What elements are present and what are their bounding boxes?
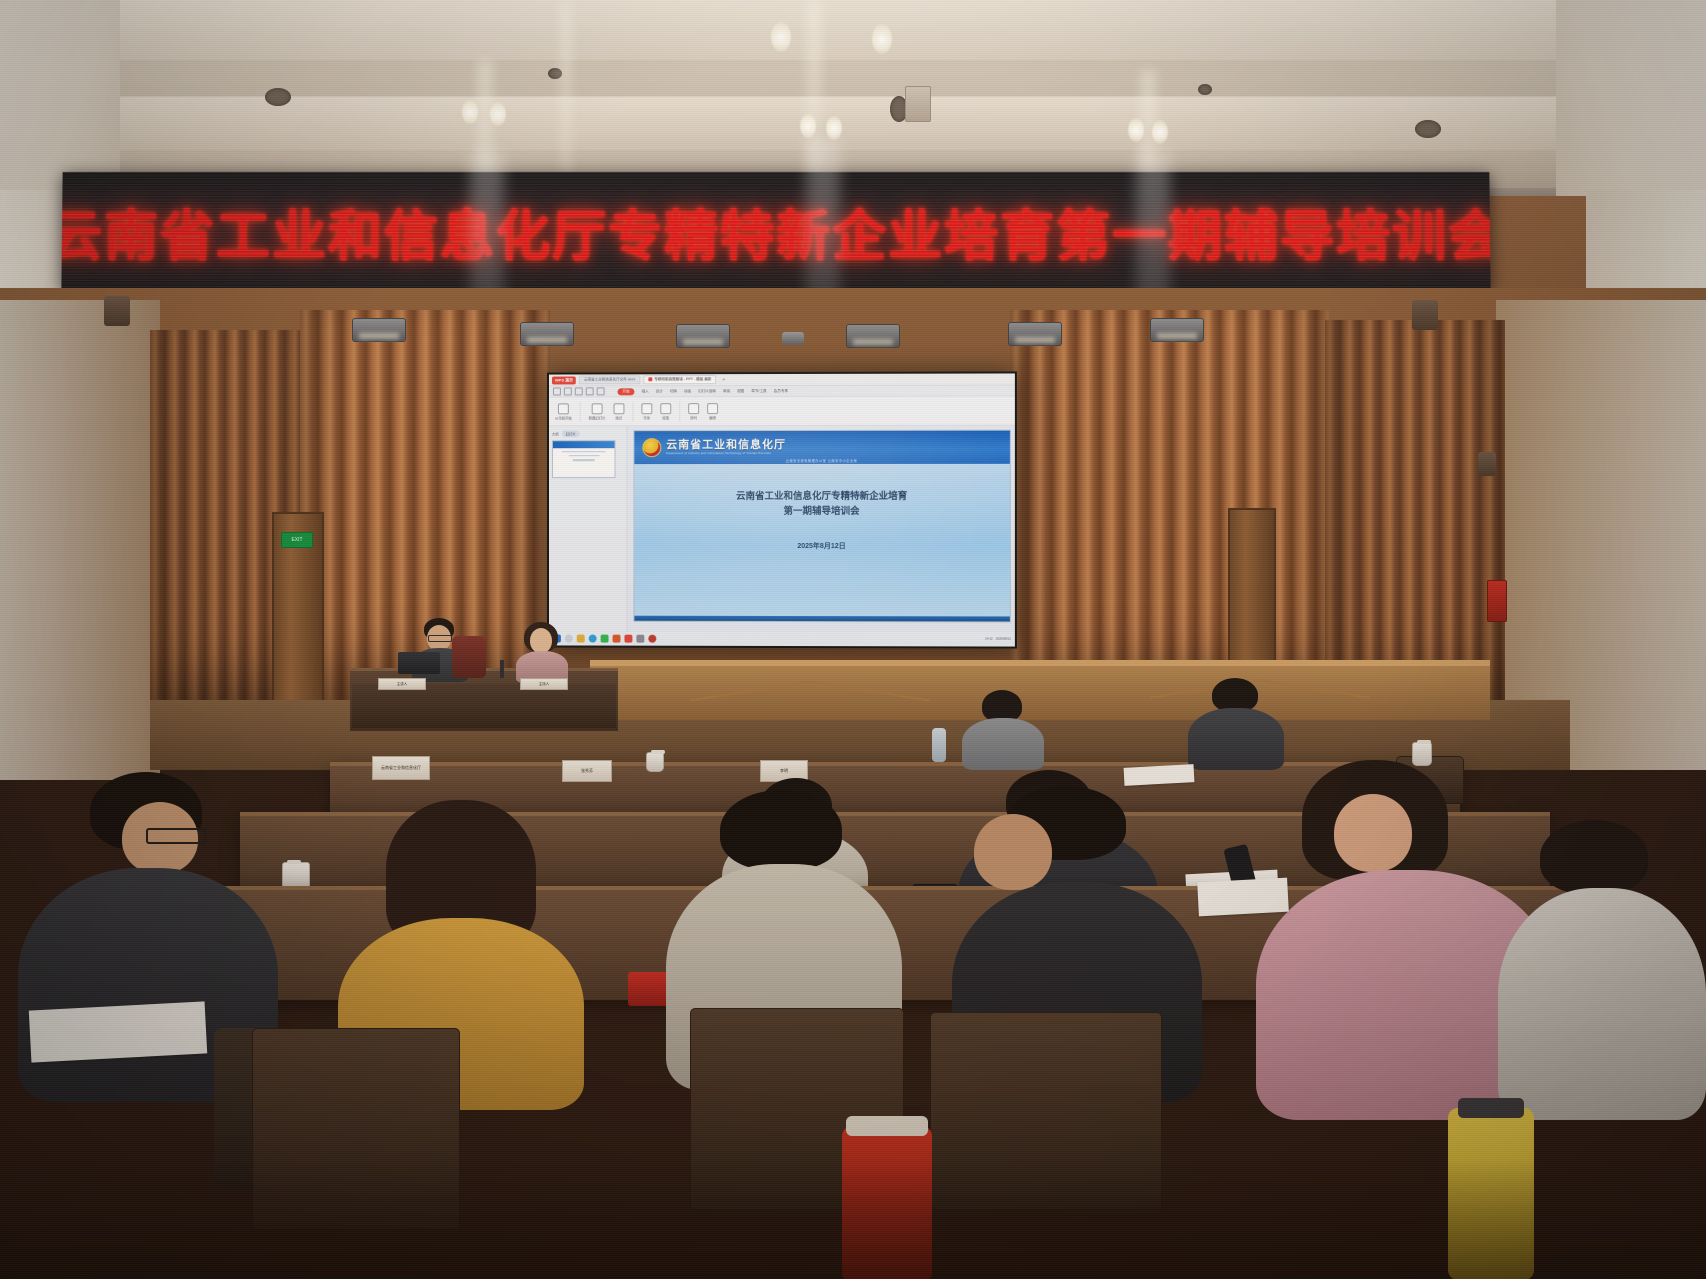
stage-light-icon (1008, 322, 1062, 346)
chair-back (252, 1028, 460, 1230)
ribbon-label-font: 字体 (643, 415, 650, 420)
thermos-flask (842, 1126, 932, 1279)
attendee-back-1 (962, 690, 1044, 770)
ppt-file-icon (648, 377, 652, 381)
audience-nameplate-label-2: 张秀芳 (581, 768, 593, 774)
ceiling (0, 0, 1706, 200)
curtain-right (1010, 310, 1330, 710)
ribbon-separator (679, 401, 680, 421)
slide-org-en: Department of Industry and Information T… (666, 451, 786, 455)
redo-icon[interactable] (575, 387, 583, 395)
wps-icon[interactable] (624, 635, 632, 643)
slide-canvas[interactable]: 云南省工业和信息化厅 Department of Industry and In… (627, 426, 1014, 643)
font-icon (641, 403, 652, 414)
ribbon-button-arrange[interactable]: 排列 (688, 403, 699, 420)
new-slide-icon (592, 403, 603, 414)
hair (1540, 820, 1648, 894)
attendee-far-right (1498, 820, 1706, 1120)
conference-room-photo: 云南省工业和信息化厅专精特新企业培育第一期辅导培训会 EXIT WPS 演示 云… (0, 0, 1706, 1279)
print-icon[interactable] (586, 387, 594, 395)
bottle-cap-icon (1458, 1098, 1524, 1118)
slides-tab[interactable]: 幻灯片 (562, 430, 580, 437)
ribbon-tab-view[interactable]: 视图 (737, 389, 744, 394)
ceiling-spotlight-icon (771, 22, 791, 52)
ribbon-tab-transition[interactable]: 切换 (670, 389, 677, 394)
head-nameplate-label-1: 主讲人 (397, 682, 408, 687)
ribbon-label-new-slide: 新建幻灯片 (589, 415, 606, 420)
ribbon-tab-member[interactable]: 会员专享 (774, 388, 788, 393)
thermos-lid (846, 1116, 928, 1136)
ribbon-tab-design[interactable]: 设计 (656, 389, 663, 394)
fire-alarm-icon (1487, 580, 1507, 622)
audience-nameplate-label-1: 云南省工业和信息化厅 (381, 765, 421, 771)
ribbon-tab-review[interactable]: 审阅 (723, 389, 730, 394)
ribbon-separator (632, 401, 633, 421)
head (530, 628, 552, 653)
wps-presentation-tab-label: 专精特新政策解读 - PPT - 模板 最新 (654, 377, 711, 381)
projector-icon (782, 332, 804, 345)
ceiling-right-slope (1556, 0, 1706, 215)
hair (720, 790, 842, 870)
ribbon-tab-start[interactable]: 开始 (618, 388, 635, 395)
ribbon-label-start-from-current: 从当前开始 (555, 415, 572, 420)
slide-title-line2: 第一期辅导培训会 (634, 505, 1009, 520)
ribbon-label-arrange: 排列 (690, 415, 697, 420)
ceiling-soffit (0, 0, 1706, 60)
ribbon-button-paragraph[interactable]: 段落 (660, 403, 671, 420)
clock-date: 2025/08/12 (996, 638, 1011, 641)
head-nameplate-label-2: 主持人 (539, 682, 550, 687)
ribbon-button-layout[interactable]: 版式 (613, 403, 624, 420)
wps-workspace: 大纲 幻灯片 云南省工业和信 (549, 426, 1015, 643)
ribbon-button-new-slide[interactable]: 新建幻灯片 (589, 403, 606, 420)
glasses-icon (428, 635, 452, 642)
stage-light-icon (1150, 318, 1204, 342)
stage-front-trim (590, 660, 1490, 666)
wall-speaker-icon (1478, 452, 1496, 476)
play-icon (558, 403, 569, 414)
downlight-icon (1198, 84, 1212, 95)
presenter-host (512, 622, 572, 682)
ribbon-tab-animation[interactable]: 动画 (684, 389, 691, 394)
wps-logo: WPS 演示 (552, 376, 576, 384)
ribbon-tab-tools[interactable]: 章节/工具 (751, 389, 766, 394)
side-wall-left (0, 300, 160, 780)
ceiling-band (0, 96, 1706, 154)
search-icon[interactable] (597, 387, 605, 395)
arrange-icon (688, 403, 699, 414)
new-tab-button[interactable]: + (719, 377, 728, 383)
taskbar-clock[interactable]: 14:12 2025/08/12 (985, 638, 1011, 641)
wechat-icon[interactable] (601, 635, 609, 643)
ribbon-button-font[interactable]: 字体 (641, 403, 652, 420)
edit-icon (707, 403, 718, 414)
attendee-back-2 (1188, 678, 1284, 770)
audience-nameplate-label-3: 李明 (780, 768, 788, 774)
projection-screen: WPS 演示 云南省工业和信息化厅文件.docx 专精特新政策解读 - PPT … (547, 371, 1017, 648)
wps-document-tab[interactable]: 云南省工业和信息化厅文件.docx (579, 375, 640, 384)
glasses-icon (146, 828, 206, 844)
led-banner: 云南省工业和信息化厅专精特新企业培育第一期辅导培训会 (61, 172, 1490, 290)
stage-light-icon (846, 324, 900, 348)
slide-title-line1: 云南省工业和信息化厅专精特新企业培育 (634, 490, 1009, 505)
audience-nameplate-2: 张秀芳 (562, 760, 612, 782)
ribbon-separator (580, 401, 581, 421)
slide-organization: 云南省工业和信息化厅 Department of Industry and In… (666, 440, 786, 456)
slide-bottom-bar (634, 616, 1009, 622)
slide-org-sub: 云南省无线电管理办公室 云南省中小企业局 (634, 458, 1009, 463)
slide-org-cn: 云南省工业和信息化厅 (666, 440, 786, 452)
tea-cup (646, 752, 664, 772)
current-slide: 云南省工业和信息化厅 Department of Industry and In… (633, 430, 1010, 623)
wall-speaker-icon (1412, 300, 1438, 330)
media-icon[interactable] (648, 635, 656, 643)
clock-time: 14:12 (985, 638, 993, 641)
torso (962, 718, 1044, 770)
head (974, 814, 1052, 890)
ribbon-label-edit: 编辑 (709, 415, 716, 420)
head-table-nameplate-1: 主讲人 (378, 678, 426, 690)
mic-icon (500, 660, 504, 678)
ribbon-tab-insert[interactable]: 插入 (642, 389, 649, 394)
hair (1212, 678, 1258, 712)
chair-back (930, 1012, 1162, 1210)
water-bottle (932, 728, 946, 762)
torso (1498, 888, 1706, 1120)
notebook-paper (1197, 878, 1289, 917)
led-banner-text: 云南省工业和信息化厅专精特新企业培育第一期辅导培训会 (61, 192, 1490, 271)
head-table-skirt (352, 684, 616, 728)
slide-pane-header: 大纲 幻灯片 (552, 430, 623, 437)
ribbon-button-start-from-current[interactable]: 从当前开始 (555, 403, 572, 420)
office-chair (452, 636, 486, 678)
folder-icon[interactable] (577, 635, 585, 643)
downlight-icon (265, 88, 291, 106)
ceiling-spotlight-icon (826, 116, 842, 140)
head-table-nameplate-2: 主持人 (520, 678, 568, 690)
water-bottle (1448, 1108, 1534, 1279)
slide-date: 2025年8月12日 (634, 541, 1009, 551)
wall-speaker-icon (104, 296, 130, 326)
stage-light-icon (520, 322, 574, 346)
save-icon[interactable] (553, 387, 561, 395)
slide-title: 云南省工业和信息化厅专精特新企业培育 第一期辅导培训会 (634, 490, 1009, 520)
wps-titlebar: WPS 演示 云南省工业和信息化厅文件.docx 专精特新政策解读 - PPT … (549, 373, 1015, 386)
ceiling-spotlight-icon (462, 100, 478, 124)
laptop-icon (398, 652, 440, 674)
thumbnail-line (573, 460, 594, 461)
thumbnail-banner (553, 441, 615, 448)
slide-thumbnail-1[interactable] (552, 440, 616, 478)
outline-tab[interactable]: 大纲 (552, 431, 559, 436)
exit-sign: EXIT (281, 532, 313, 548)
windows-taskbar[interactable]: 14:12 2025/08/12 (549, 632, 1015, 647)
ribbon-tab-slideshow[interactable]: 幻灯片放映 (698, 389, 716, 394)
slide-thumbnail-pane[interactable]: 大纲 幻灯片 (549, 426, 627, 641)
wps-ribbon-tab-strip: 开始 插入 设计 切换 动画 幻灯片放映 审阅 视图 章节/工具 会员专享 (549, 385, 1015, 397)
stage-light-icon (676, 324, 730, 348)
thumbnail-line (568, 455, 599, 456)
browser-icon[interactable] (589, 635, 597, 643)
undo-icon[interactable] (564, 387, 572, 395)
head (1334, 794, 1412, 872)
ceiling-spotlight-icon (872, 24, 892, 54)
thumbnail-line (562, 451, 605, 452)
ribbon-label-layout: 版式 (616, 415, 623, 420)
stage-light-icon (352, 318, 406, 342)
mail-icon[interactable] (636, 635, 644, 643)
ribbon-label-paragraph: 段落 (662, 415, 669, 420)
audience-nameplate-1: 云南省工业和信息化厅 (372, 756, 430, 780)
paragraph-icon (660, 403, 671, 414)
national-emblem-icon (642, 438, 661, 457)
notebook-paper (29, 1001, 207, 1062)
ribbon-button-edit[interactable]: 编辑 (707, 403, 718, 420)
air-vent (905, 86, 931, 122)
qq-icon[interactable] (613, 635, 621, 643)
wps-presentation-tab[interactable]: 专精特新政策解读 - PPT - 模板 最新 (643, 375, 716, 384)
projected-desktop: WPS 演示 云南省工业和信息化厅文件.docx 专精特新政策解读 - PPT … (549, 373, 1015, 646)
downlight-icon (1415, 120, 1441, 138)
wps-ribbon: 从当前开始 新建幻灯片 版式 字体 段落 (549, 397, 1015, 427)
slide-header-banner: 云南省工业和信息化厅 Department of Industry and In… (634, 431, 1009, 464)
quick-access-toolbar[interactable] (553, 387, 605, 395)
layout-icon (613, 403, 624, 414)
